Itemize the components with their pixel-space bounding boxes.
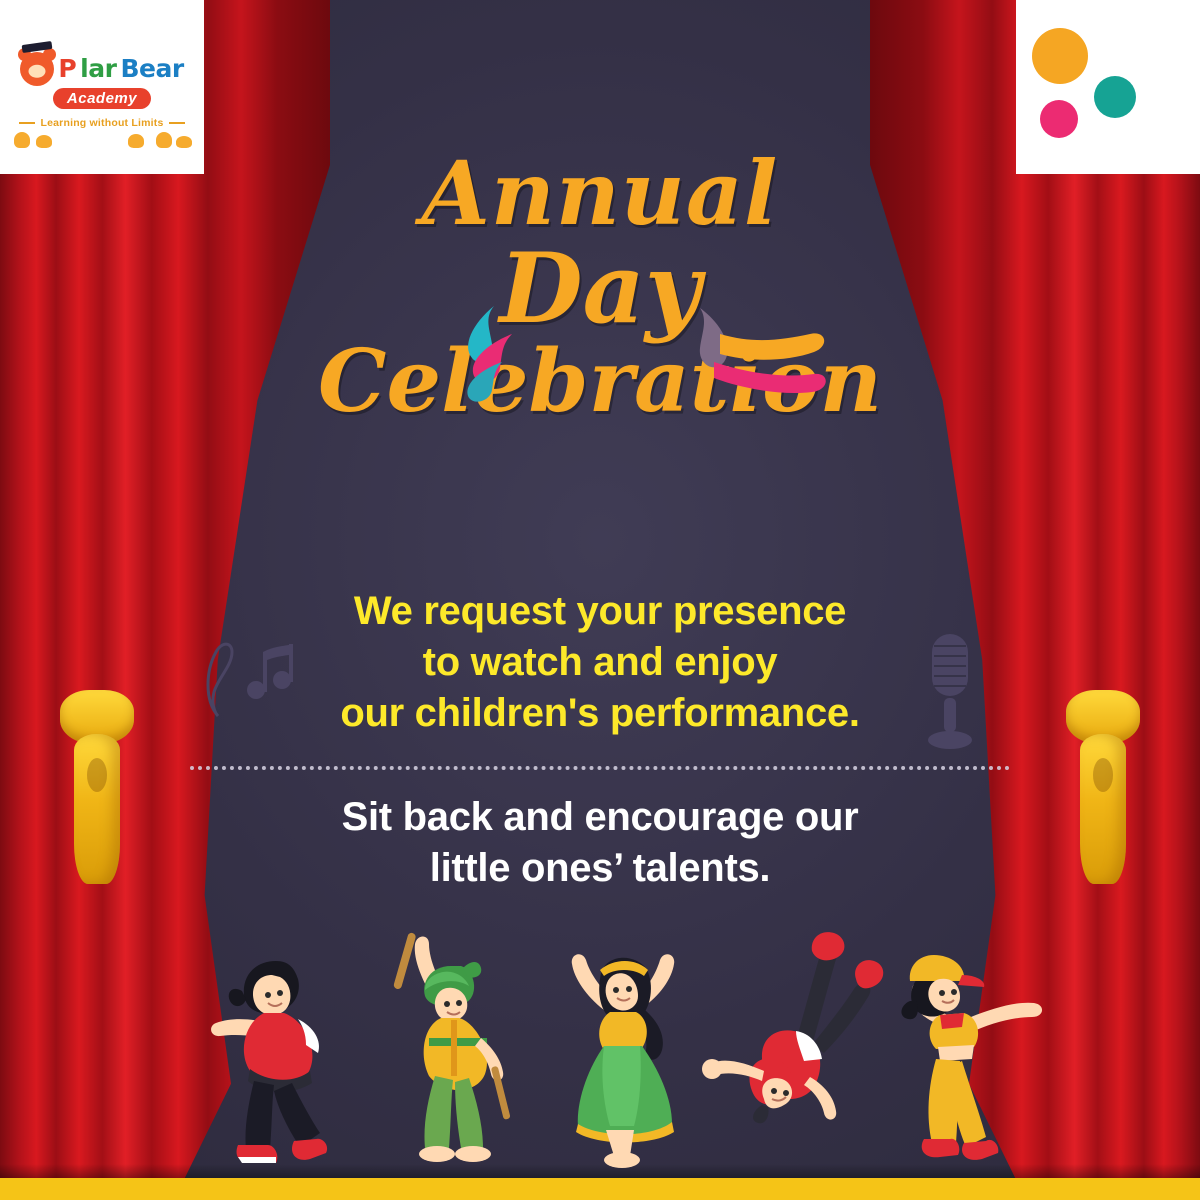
kid-silhouette — [156, 132, 172, 148]
logo-wordmark: P lar Bear — [20, 52, 183, 86]
kid-silhouette — [128, 134, 144, 148]
curtain-tassel-right — [1080, 734, 1126, 884]
kid-silhouette — [176, 136, 192, 148]
logo-academy-label: Academy — [53, 88, 151, 109]
logo-tagline: Learning without Limits — [19, 117, 184, 129]
dancer-girl-green-lehenga: Girl in green lehenga dancing — [530, 926, 720, 1176]
dots-badge — [1016, 0, 1200, 174]
logo-word-3: lar — [80, 54, 116, 83]
dot-orange-icon — [1032, 28, 1088, 84]
dancer-girl-yellow-cap: Girl in yellow outfit with cap — [870, 923, 1050, 1176]
paint-splash-icon-right — [690, 300, 830, 425]
invite-line-3: our children's performance. — [190, 688, 1010, 739]
dancers-row: Boy dancing in red shirt — [180, 926, 1020, 1176]
logo-word-1: P — [58, 54, 76, 83]
tagline-dash-left — [19, 122, 35, 124]
tagline-text: Learning without Limits — [40, 117, 163, 129]
dot-pink-icon — [1040, 100, 1078, 138]
kid-silhouette — [36, 135, 52, 148]
closing-line-2: little ones’ talents. — [190, 843, 1010, 894]
invite-line-1: We request your presence — [190, 586, 1010, 637]
bear-face-icon — [20, 52, 54, 86]
headline-line-2: Day — [0, 242, 1200, 336]
logo-kids-silhouettes — [12, 130, 192, 148]
logo-word-4: Bear — [120, 54, 183, 83]
poster-canvas: Annual Day Celebration We request your p… — [0, 0, 1200, 1200]
bear-snout — [29, 65, 46, 78]
kid-silhouette — [14, 132, 30, 148]
tagline-dash-right — [169, 122, 185, 124]
dot-teal-icon — [1094, 76, 1136, 118]
invitation-copy: We request your presence to watch and en… — [190, 586, 1010, 894]
dotted-divider — [190, 766, 1010, 770]
dancer-breakdancer-red: Breakdancer upside down in red hoodie — [700, 921, 890, 1176]
invite-line-2: to watch and enjoy — [190, 637, 1010, 688]
logo-badge[interactable]: P lar Bear Academy Learning without Limi… — [0, 0, 204, 174]
headline-line-3: Celebration — [0, 340, 1200, 424]
stage-floor — [0, 1178, 1200, 1200]
dancer-boy-red-shirt: Boy dancing in red shirt — [180, 941, 370, 1176]
closing-line-1: Sit back and encourage our — [190, 792, 1010, 843]
curtain-tassel-left — [74, 734, 120, 884]
dancer-boy-green-turban: Boy in green turban with sticks — [365, 926, 535, 1176]
headline-group: Annual Day Celebration — [0, 150, 1200, 425]
graduation-cap-icon — [22, 40, 53, 52]
paint-splash-icon-left — [432, 300, 522, 415]
